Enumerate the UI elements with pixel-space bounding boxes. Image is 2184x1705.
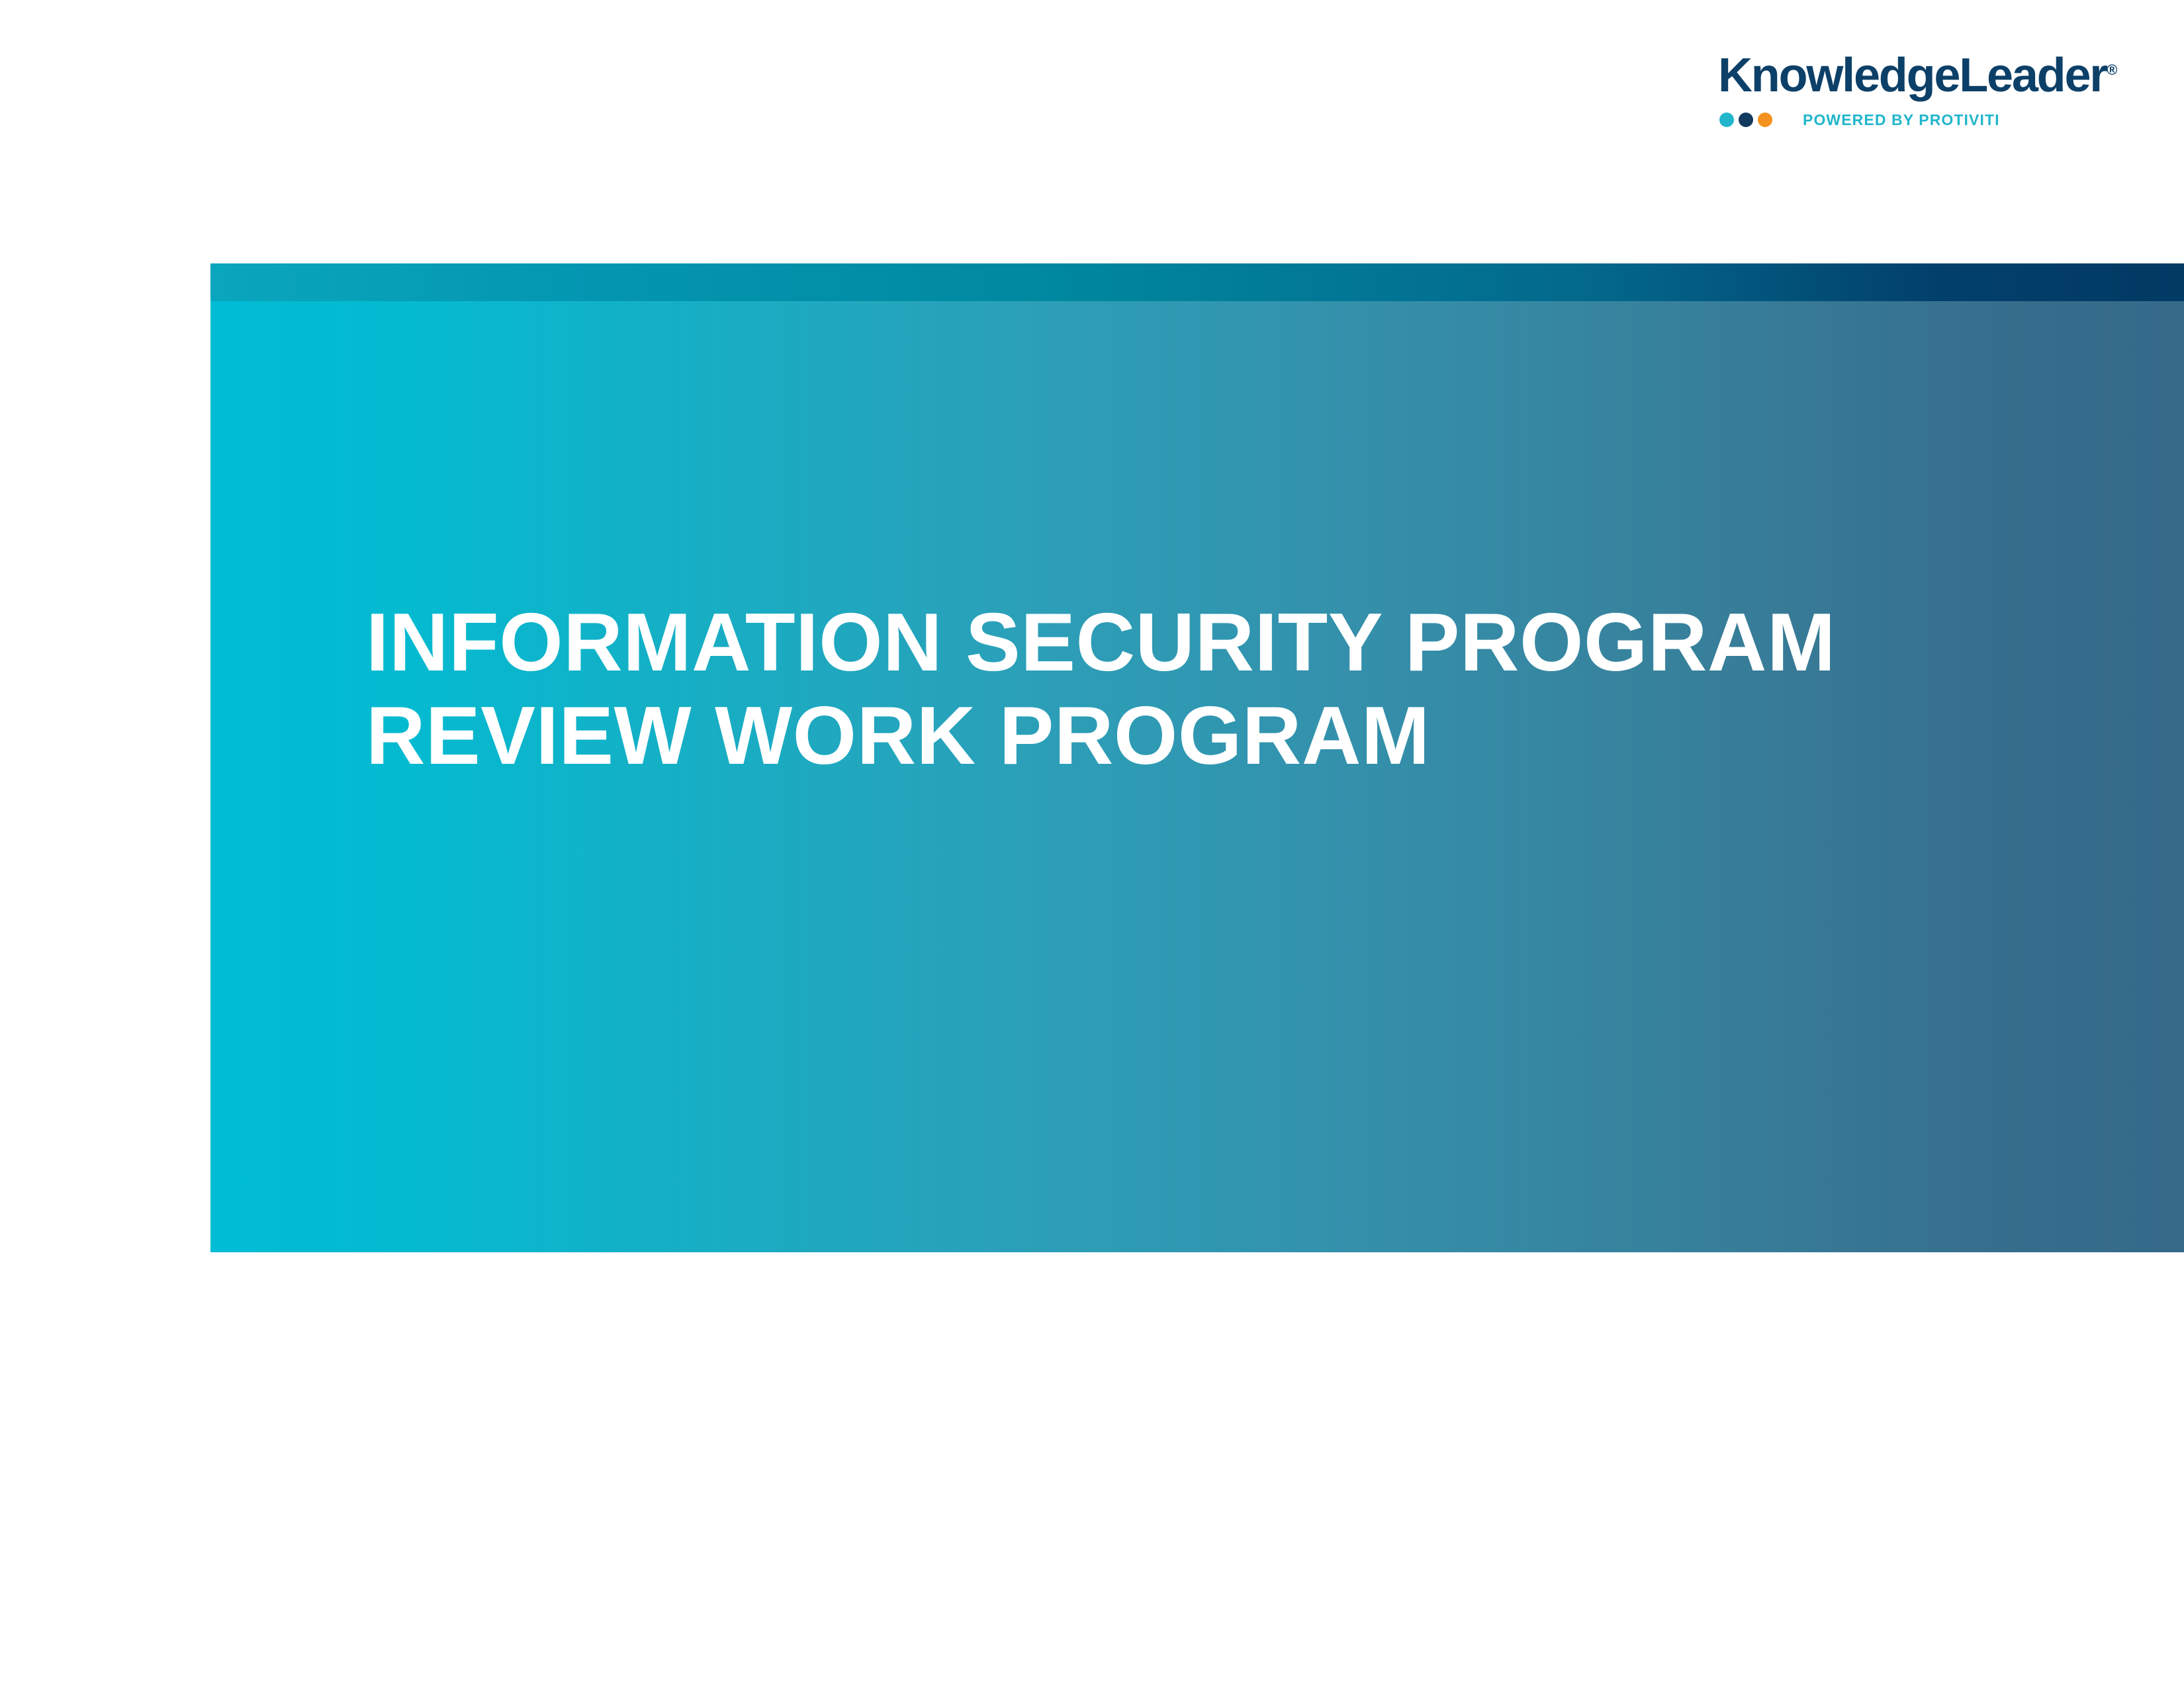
dot-orange-icon (1758, 113, 1772, 127)
brand-tagline: POWERED BY PROTIVITI (1803, 113, 2000, 128)
hero-banner: INFORMATION SECURITY PROGRAM REVIEW WORK… (210, 263, 2184, 1252)
dot-navy-icon (1739, 113, 1753, 127)
registered-trademark-icon: ® (2107, 62, 2117, 78)
brand-dots-icon (1719, 113, 1772, 127)
page-title: INFORMATION SECURITY PROGRAM REVIEW WORK… (366, 596, 1954, 784)
knowledgeleader-logo: KnowledgeLeader® POWERED BY PROTIVITI (1718, 34, 2049, 134)
brand-wordmark-text: KnowledgeLeader (1718, 49, 2107, 102)
dot-cyan-icon (1719, 113, 1734, 127)
brand-subline: POWERED BY PROTIVITI (1719, 109, 2000, 131)
brand-wordmark: KnowledgeLeader® (1718, 52, 2117, 99)
hero-top-accent-strip (210, 263, 2184, 301)
cover-page: KnowledgeLeader® POWERED BY PROTIVITI IN… (0, 0, 2184, 1705)
